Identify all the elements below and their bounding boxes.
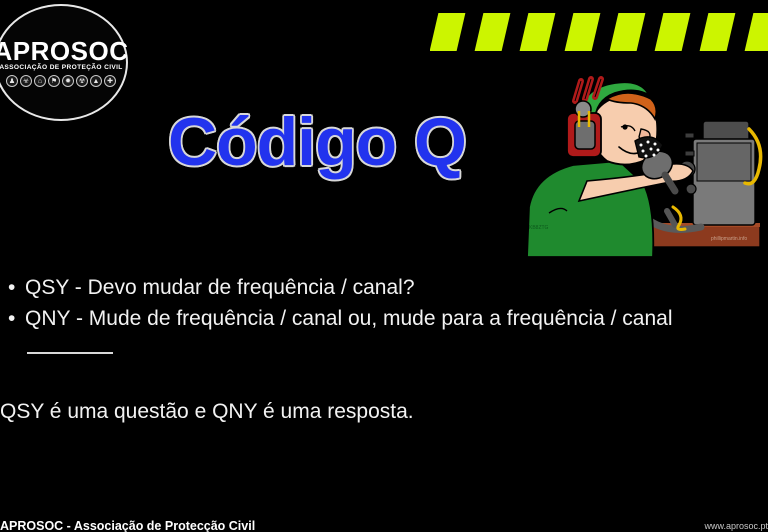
logo-content: APROSOC ASSOCIAÇÃO DE PROTEÇÃO CIVIL ♟ ☣… — [0, 6, 126, 119]
list-item-text: QNY - Mude de frequência / canal ou, mud… — [25, 307, 673, 330]
logo-subtitle: ASSOCIAÇÃO DE PROTEÇÃO CIVIL — [0, 65, 123, 72]
hazard-person-icon: ☣ — [20, 75, 32, 87]
hazard-stripe — [610, 13, 646, 51]
footer-website: www.aprosoc.pt — [704, 521, 768, 532]
hazard-stripe — [700, 13, 736, 51]
bullet-list: • QSY - Devo mudar de frequência / canal… — [0, 272, 740, 365]
hazard-stripe — [655, 13, 691, 51]
footer-organisation: APROSOC - Associação de Protecção Civil — [0, 519, 255, 532]
rescue-person-icon: ♟ — [6, 75, 18, 87]
bullet-marker: • — [8, 303, 15, 334]
house-icon: ⌂ — [34, 75, 46, 87]
summary-text: QSY é uma questão e QNY é uma resposta. — [0, 398, 414, 426]
svg-text:KB8ZTG: KB8ZTG — [529, 225, 549, 231]
hazard-stripe — [565, 13, 601, 51]
medical-cross-icon: ✚ — [104, 75, 116, 87]
aprosoc-logo: APROSOC ASSOCIAÇÃO DE PROTEÇÃO CIVIL ♟ ☣… — [0, 4, 128, 121]
page-title: Código Q — [168, 108, 466, 176]
explosion-icon: ✹ — [62, 75, 74, 87]
bullet-marker: • — [8, 272, 15, 303]
fill-in-blank-line — [27, 352, 113, 354]
logo-icon-row: ♟ ☣ ⌂ ⚑ ✹ ☢ ▲ ✚ — [6, 75, 116, 87]
logo-title: APROSOC — [0, 38, 128, 64]
presentation-slide: APROSOC ASSOCIAÇÃO DE PROTEÇÃO CIVIL ♟ ☣… — [0, 0, 768, 532]
list-item-text: QSY - Devo mudar de frequência / canal? — [25, 276, 415, 299]
hazard-stripe — [745, 13, 768, 51]
ham-radio-operator-illustration: KB8ZTG — [515, 65, 768, 257]
radiation-icon: ☢ — [76, 75, 88, 87]
list-item: • QNY - Mude de frequência / canal ou, m… — [0, 303, 740, 365]
list-item: • QSY - Devo mudar de frequência / canal… — [0, 272, 740, 303]
mountain-icon: ▲ — [90, 75, 102, 87]
hazard-stripe — [475, 13, 511, 51]
svg-text:phillipmartin.info: phillipmartin.info — [711, 236, 747, 242]
hazard-stripe — [520, 13, 556, 51]
fire-icon: ⚑ — [48, 75, 60, 87]
hazard-stripe — [430, 13, 465, 51]
hazard-stripe-banner — [430, 13, 768, 51]
